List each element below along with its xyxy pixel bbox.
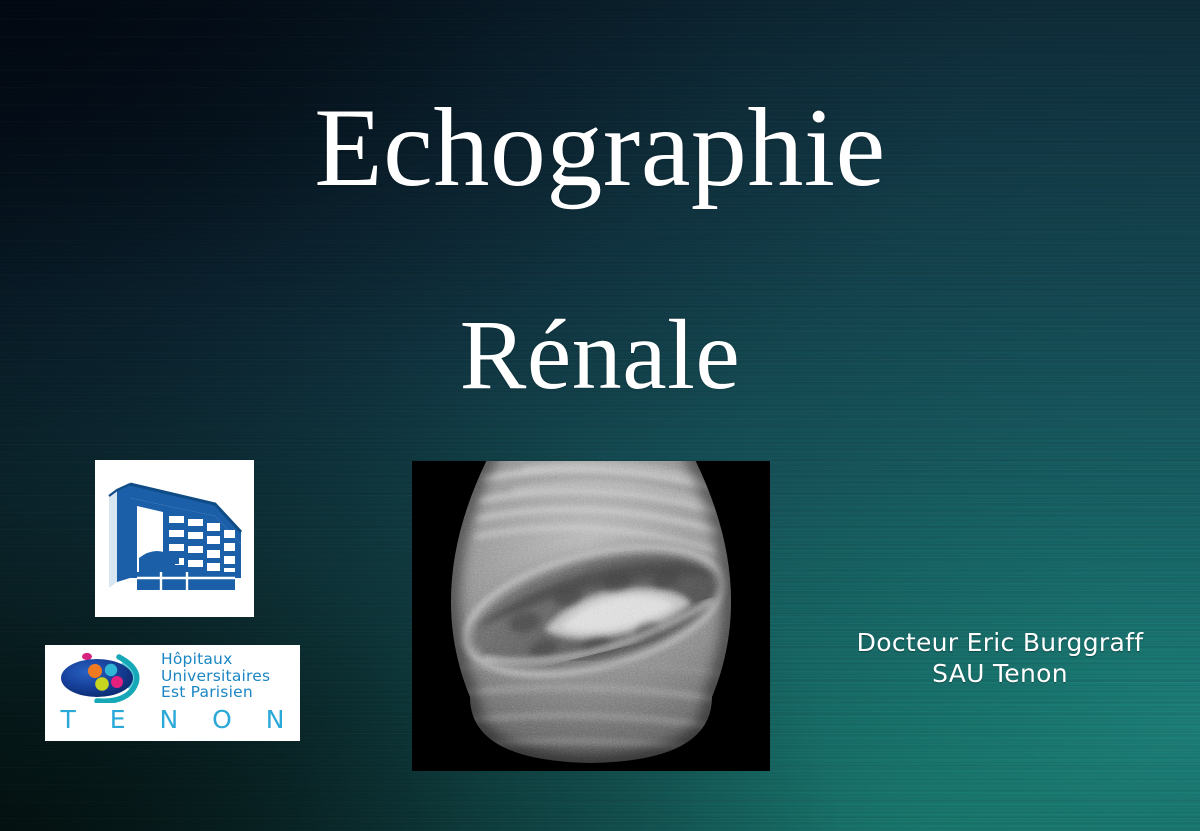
slide-title-line-2: Rénale	[0, 305, 1200, 405]
author-block: Docteur Eric Burggraff SAU Tenon	[790, 628, 1200, 689]
tenon-logo: Hôpitaux Universitaires Est Parisien T E…	[45, 645, 300, 741]
tenon-wordmark-line-3: Est Parisien	[161, 684, 297, 701]
tenon-wordmark-line-1: Hôpitaux	[161, 651, 297, 668]
author-affiliation: SAU Tenon	[790, 659, 1200, 690]
hospital-building-logo	[95, 460, 254, 617]
tenon-wordmark: Hôpitaux Universitaires Est Parisien	[161, 651, 297, 701]
tenon-wordmark-line-2: Universitaires	[161, 668, 297, 685]
presentation-slide: Echographie Rénale Docteur Eric Burggraf…	[0, 0, 1200, 831]
tenon-institution-name: T E N O N	[45, 705, 300, 734]
tenon-logo-top-row: Hôpitaux Universitaires Est Parisien	[45, 645, 300, 707]
hospital-building-icon	[95, 460, 254, 617]
tenon-emblem-icon	[57, 651, 157, 703]
slide-title-line-1: Echographie	[0, 92, 1200, 204]
ultrasound-scan-graphic	[412, 461, 770, 771]
renal-ultrasound-image	[412, 461, 770, 771]
author-name: Docteur Eric Burggraff	[790, 628, 1200, 659]
